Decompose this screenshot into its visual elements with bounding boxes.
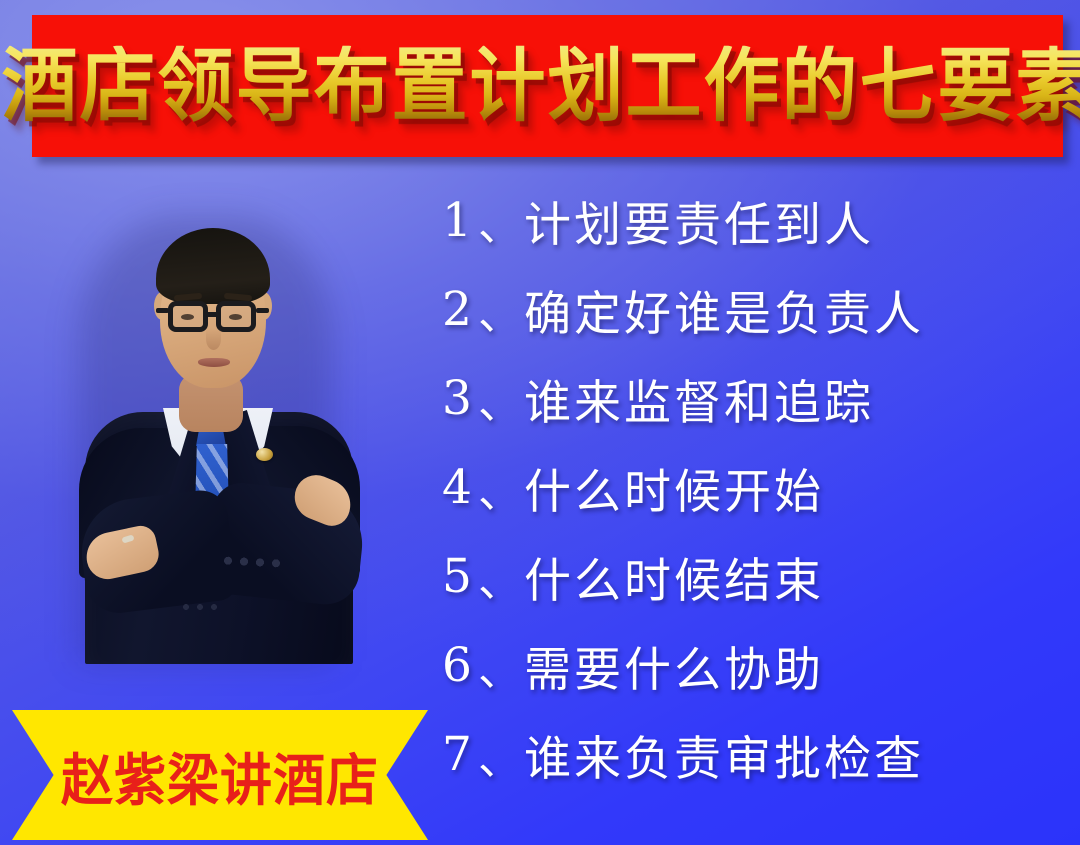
eyeglasses-temple-left xyxy=(156,308,169,313)
list-item-separator: 、 xyxy=(478,634,524,698)
eyeglasses-temple-right xyxy=(256,308,269,313)
list-item-separator: 、 xyxy=(478,278,524,342)
list-item-number: 7 xyxy=(442,727,478,782)
eyeglasses-bridge xyxy=(208,312,218,317)
list-item-label: 什么时候开始 xyxy=(524,453,824,522)
list-item-number: 1 xyxy=(442,193,478,248)
list-item-label: 需要什么协助 xyxy=(524,631,824,700)
poster-title: 酒店领导布置计划工作的七要素 xyxy=(2,46,1080,127)
eyeglasses-lens-right xyxy=(216,301,256,332)
list-item: 1 、 计划要责任到人 xyxy=(442,176,1042,265)
list-item-number: 5 xyxy=(442,549,478,604)
brand-ribbon-label: 赵紫梁讲酒店 xyxy=(61,735,379,816)
list-item: 7 、 谁来负责审批检查 xyxy=(442,710,1042,799)
list-item-separator: 、 xyxy=(478,456,524,520)
list-item-number: 3 xyxy=(442,371,478,426)
speaker-portrait xyxy=(60,196,350,664)
list-item-number: 6 xyxy=(442,638,478,693)
list-item: 2 、 确定好谁是负责人 xyxy=(442,265,1042,354)
list-item: 4 、 什么时候开始 xyxy=(442,443,1042,532)
list-item: 6 、 需要什么协助 xyxy=(442,621,1042,710)
list-item-separator: 、 xyxy=(478,545,524,609)
list-item-number: 2 xyxy=(442,282,478,337)
lapel-pin-icon xyxy=(256,448,273,461)
poster-canvas: 酒店领导布置计划工作的七要素 xyxy=(0,0,1080,845)
brand-ribbon: 赵紫梁讲酒店 xyxy=(12,710,428,840)
sleeve-buttons-left xyxy=(180,602,230,612)
list-item-separator: 、 xyxy=(478,723,524,787)
list-item-number: 4 xyxy=(442,460,478,515)
list-item: 3 、 谁来监督和追踪 xyxy=(442,354,1042,443)
eyeglasses-lens-left xyxy=(168,301,208,332)
list-item-label: 谁来负责审批检查 xyxy=(524,720,924,789)
list-item-separator: 、 xyxy=(478,367,524,431)
title-banner: 酒店领导布置计划工作的七要素 xyxy=(32,15,1063,157)
list-item-label: 谁来监督和追踪 xyxy=(524,364,874,433)
list-item: 5 、 什么时候结束 xyxy=(442,532,1042,621)
list-item-label: 确定好谁是负责人 xyxy=(524,275,924,344)
mouth xyxy=(198,358,230,367)
list-item-label: 什么时候结束 xyxy=(524,542,824,611)
list-item-label: 计划要责任到人 xyxy=(524,186,874,255)
list-item-separator: 、 xyxy=(478,189,524,253)
nose xyxy=(206,328,221,350)
seven-elements-list: 1 、 计划要责任到人 2 、 确定好谁是负责人 3 、 谁来监督和追踪 4 、… xyxy=(442,176,1042,799)
